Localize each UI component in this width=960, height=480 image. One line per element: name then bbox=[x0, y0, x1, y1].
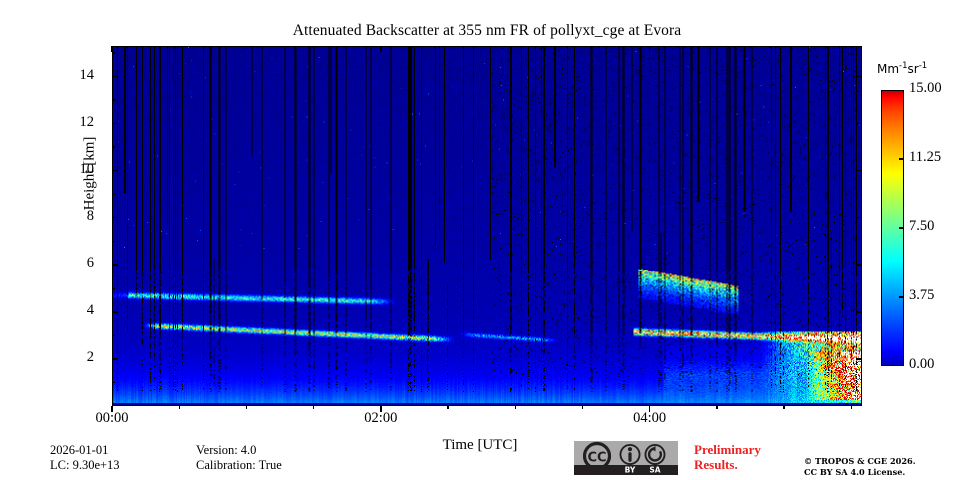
x-tick-label: 00:00 bbox=[72, 410, 152, 427]
colorbar-units-label: Mm-1sr-1 bbox=[877, 61, 927, 76]
y-tick-mark bbox=[856, 170, 862, 171]
x-tick-mark-minor bbox=[582, 406, 583, 409]
x-tick-mark-minor bbox=[716, 406, 717, 409]
preliminary-line-2: Results. bbox=[694, 457, 761, 472]
cc-by-sa-badge[interactable]: CC BY SA bbox=[574, 441, 678, 475]
heatmap-plot-area bbox=[112, 46, 862, 406]
x-tick-mark-top bbox=[380, 46, 381, 52]
x-tick-mark-minor bbox=[179, 406, 180, 409]
cc-badge-sa-text: SA bbox=[649, 466, 660, 475]
y-tick-mark-minor bbox=[112, 335, 115, 336]
footer-calibration: Calibration: True bbox=[196, 458, 282, 473]
y-tick-mark bbox=[112, 170, 118, 171]
heatmap-canvas-wrapper bbox=[113, 47, 861, 405]
y-tick-mark-minor bbox=[112, 382, 115, 383]
colorbar-units-exp1: -1 bbox=[899, 61, 907, 71]
footer-lidar-constant: LC: 9.30e+13 bbox=[50, 458, 120, 473]
colorbar-tick-mark bbox=[899, 158, 904, 159]
y-tick-mark bbox=[112, 311, 118, 312]
x-tick-mark-top bbox=[649, 46, 650, 52]
y-tick-mark-minor bbox=[112, 52, 115, 53]
colorbar-tick-label: 7.50 bbox=[909, 218, 934, 235]
y-tick-label: 2 bbox=[54, 349, 94, 366]
y-tick-mark bbox=[856, 76, 862, 77]
y-tick-label: 6 bbox=[54, 255, 94, 272]
y-tick-label: 8 bbox=[54, 208, 94, 225]
colorbar-units-exp2: -1 bbox=[919, 61, 927, 71]
y-tick-mark-minor bbox=[112, 288, 115, 289]
cc-badge-icons: CC BY SA bbox=[574, 441, 678, 475]
copyright-line-2: CC BY SA 4.0 License. bbox=[804, 467, 916, 478]
x-tick-mark bbox=[380, 406, 381, 412]
y-tick-label: 4 bbox=[54, 302, 94, 319]
colorbar-tick-label: 11.25 bbox=[909, 149, 941, 166]
attenuated-backscatter-heatmap bbox=[113, 47, 861, 405]
svg-text:CC: CC bbox=[587, 451, 606, 466]
y-tick-mark bbox=[112, 123, 118, 124]
colorbar-tick-label: 15.00 bbox=[909, 80, 942, 97]
colorbar-tick-mark bbox=[899, 227, 904, 228]
y-tick-label: 10 bbox=[54, 161, 94, 178]
copyright-line-1: © TROPOS & CGE 2026. bbox=[804, 456, 916, 467]
cc-badge-by-text: BY bbox=[625, 466, 636, 475]
preliminary-line-1: Preliminary bbox=[694, 442, 761, 457]
y-tick-mark bbox=[856, 264, 862, 265]
x-tick-label: 02:00 bbox=[341, 410, 421, 427]
x-axis-label: Time [UTC] bbox=[0, 437, 960, 454]
x-tick-mark-minor bbox=[313, 406, 314, 409]
colorbar-units-mid: sr bbox=[908, 62, 919, 76]
y-tick-mark-minor bbox=[112, 241, 115, 242]
x-tick-label: 04:00 bbox=[610, 410, 690, 427]
y-tick-mark bbox=[856, 311, 862, 312]
y-tick-mark bbox=[856, 358, 862, 359]
colorbar-tick-mark bbox=[899, 296, 904, 297]
y-tick-mark bbox=[112, 264, 118, 265]
y-tick-label: 12 bbox=[54, 114, 94, 131]
x-tick-mark-minor bbox=[515, 406, 516, 409]
copyright-note: © TROPOS & CGE 2026. CC BY SA 4.0 Licens… bbox=[804, 456, 916, 478]
y-tick-mark-minor bbox=[112, 194, 115, 195]
footer-date: 2026-01-01 bbox=[50, 443, 108, 458]
y-tick-mark-minor bbox=[112, 146, 115, 147]
colorbar-tick-label: 0.00 bbox=[909, 356, 934, 373]
y-tick-mark bbox=[112, 76, 118, 77]
x-tick-mark bbox=[111, 406, 112, 412]
y-tick-mark bbox=[856, 123, 862, 124]
x-tick-mark bbox=[649, 406, 650, 412]
x-tick-mark-minor bbox=[447, 406, 448, 409]
y-tick-mark bbox=[856, 217, 862, 218]
y-tick-label: 14 bbox=[54, 67, 94, 84]
page-title: Attenuated Backscatter at 355 nm FR of p… bbox=[112, 22, 862, 40]
x-tick-mark-top bbox=[111, 46, 112, 52]
y-tick-mark bbox=[112, 358, 118, 359]
colorbar-tick-label: 3.75 bbox=[909, 287, 934, 304]
lidar-quicklook-figure: Attenuated Backscatter at 355 nm FR of p… bbox=[0, 0, 960, 480]
y-tick-mark-minor bbox=[112, 99, 115, 100]
footer-version: Version: 4.0 bbox=[196, 443, 256, 458]
x-tick-mark-minor bbox=[783, 406, 784, 409]
x-tick-mark-minor bbox=[851, 406, 852, 409]
x-tick-mark-minor bbox=[246, 406, 247, 409]
colorbar-units-main: Mm bbox=[877, 62, 899, 76]
preliminary-results-note: Preliminary Results. bbox=[694, 442, 761, 473]
y-tick-mark bbox=[112, 217, 118, 218]
